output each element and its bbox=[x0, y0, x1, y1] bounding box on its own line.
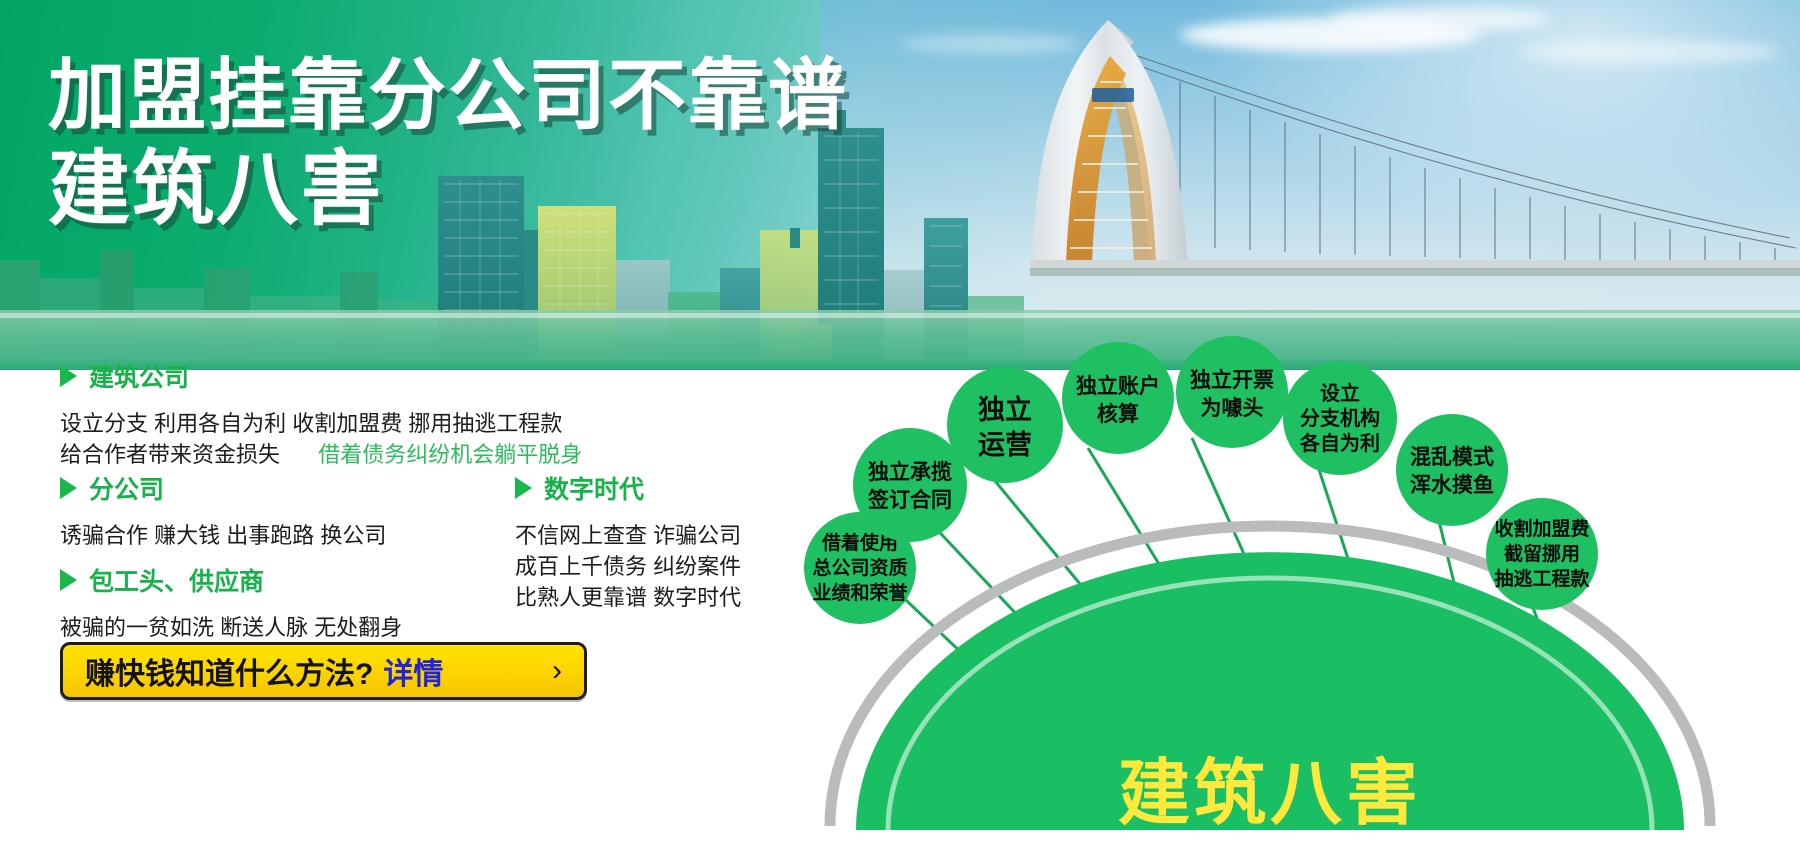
section-contractor-supplier: 包工头、供应商 被骗的一贫如洗 断送人脉 无处翻身 bbox=[60, 562, 402, 643]
dome-label: 建筑八害 bbox=[1118, 754, 1422, 834]
bubble-b2[interactable]: 独立承揽 签订合同 bbox=[853, 428, 967, 542]
body-line: 不信网上查查 诈骗公司 bbox=[515, 520, 741, 551]
triangle-bullet-icon bbox=[60, 365, 77, 387]
triangle-bullet-icon bbox=[60, 569, 77, 591]
section-heading-contractor-supplier: 包工头、供应商 bbox=[60, 562, 402, 598]
chevron-right-icon: › bbox=[552, 654, 562, 688]
diagram-svg: 建筑八害 借着使用 总公司资质 业绩和荣誉 独立承揽 签订合同 独立 运营 bbox=[800, 330, 1800, 844]
bubble-diagram: 建筑八害 借着使用 总公司资质 业绩和荣誉 独立承揽 签订合同 独立 运营 bbox=[800, 330, 1800, 844]
section-branch-company: 分公司 诱骗合作 赚大钱 出事跑路 换公司 bbox=[60, 470, 386, 551]
bubble-b1-line-2: 业绩和荣誉 bbox=[812, 581, 908, 604]
poster-root: 加盟挂靠分公司不靠谱 建筑八害 建筑公司 设立分支 利用各自为利 收割加盟费 挪… bbox=[0, 0, 1800, 844]
hero-headline: 加盟挂靠分公司不靠谱 建筑八害 bbox=[48, 56, 848, 231]
triangle-bullet-icon bbox=[60, 477, 77, 499]
bubble-b6-line-1: 分支机构 bbox=[1300, 406, 1380, 430]
bubble-b3-line-1: 运营 bbox=[978, 430, 1032, 460]
headline-line-1: 加盟挂靠分公司不靠谱 bbox=[48, 56, 848, 136]
bubble-b3-line-0: 独立 bbox=[978, 394, 1032, 425]
body-line-mixed: 给合作者带来资金损失 借着债务纠纷机会躺平脱身 bbox=[60, 439, 582, 470]
body-line: 成百上千债务 纠纷案件 bbox=[515, 551, 741, 582]
bubble-b4[interactable]: 独立账户 核算 bbox=[1062, 342, 1174, 454]
bubble-b8-line-0: 收割加盟费 bbox=[1494, 517, 1589, 540]
section-title-text: 包工头、供应商 bbox=[89, 562, 264, 598]
section-heading-construction-company: 建筑公司 bbox=[60, 358, 582, 394]
body-line: 比熟人更靠谱 数字时代 bbox=[515, 582, 741, 613]
bubble-b1-line-1: 总公司资质 bbox=[812, 556, 907, 579]
bubble-b2-line-0: 独立承揽 bbox=[868, 460, 952, 484]
section-body-digital-era: 不信网上查查 诈骗公司 成百上千债务 纠纷案件 比熟人更靠谱 数字时代 bbox=[515, 520, 741, 614]
hero-banner: 加盟挂靠分公司不靠谱 建筑八害 bbox=[0, 0, 1800, 370]
bubble-b5[interactable]: 独立开票 为噱头 bbox=[1176, 336, 1288, 448]
section-title-text: 分公司 bbox=[89, 470, 164, 506]
section-title-text: 建筑公司 bbox=[89, 358, 189, 394]
triangle-bullet-icon bbox=[515, 477, 532, 499]
hero-ground-line bbox=[0, 313, 1800, 318]
bubble-b7-line-0: 混乱模式 bbox=[1410, 445, 1494, 469]
section-title-text: 数字时代 bbox=[544, 470, 644, 506]
bubble-b5-line-1: 为噱头 bbox=[1201, 397, 1264, 420]
bubble-b5-line-0: 独立开票 bbox=[1190, 368, 1274, 392]
bubble-b8[interactable]: 收割加盟费 截留挪用 抽逃工程款 bbox=[1486, 498, 1598, 610]
bubble-b4-line-1: 核算 bbox=[1097, 402, 1139, 426]
section-body-construction-company: 设立分支 利用各自为利 收割加盟费 挪用抽逃工程款 给合作者带来资金损失 借着债… bbox=[60, 408, 582, 470]
headline-line-2: 建筑八害 bbox=[48, 148, 848, 232]
bridge-illustration bbox=[1030, 12, 1800, 312]
body-line: 设立分支 利用各自为利 收割加盟费 挪用抽逃工程款 bbox=[60, 408, 582, 439]
section-digital-era: 数字时代 不信网上查查 诈骗公司 成百上千债务 纠纷案件 比熟人更靠谱 数字时代 bbox=[515, 470, 741, 614]
bubble-b8-line-1: 截留挪用 bbox=[1504, 542, 1580, 565]
bubble-b6[interactable]: 设立 分支机构 各自为利 bbox=[1283, 361, 1397, 475]
bubble-b2-line-1: 签订合同 bbox=[867, 488, 952, 512]
body-line-dark: 给合作者带来资金损失 bbox=[60, 442, 280, 467]
bubble-b6-line-0: 设立 bbox=[1320, 381, 1360, 405]
section-construction-company: 建筑公司 设立分支 利用各自为利 收割加盟费 挪用抽逃工程款 给合作者带来资金损… bbox=[60, 358, 582, 470]
bubble-b8-line-2: 抽逃工程款 bbox=[1494, 567, 1590, 590]
section-body-branch-company: 诱骗合作 赚大钱 出事跑路 换公司 bbox=[60, 520, 386, 551]
section-heading-branch-company: 分公司 bbox=[60, 470, 386, 506]
body-line: 诱骗合作 赚大钱 出事跑路 换公司 bbox=[60, 520, 386, 551]
body-line: 被骗的一贫如洗 断送人脉 无处翻身 bbox=[60, 612, 402, 643]
section-heading-digital-era: 数字时代 bbox=[515, 470, 741, 506]
bubble-b7[interactable]: 混乱模式 浑水摸鱼 bbox=[1396, 414, 1508, 526]
cta-label: 赚快钱知道什么方法? bbox=[85, 649, 373, 693]
bubble-b4-line-0: 独立账户 bbox=[1076, 374, 1160, 398]
body-line-green: 借着债务纠纷机会躺平脱身 bbox=[318, 442, 582, 467]
cta-detail-link[interactable]: 详情 bbox=[383, 649, 443, 693]
bubble-b3[interactable]: 独立 运营 bbox=[947, 367, 1063, 483]
content-left: 建筑公司 设立分支 利用各自为利 收割加盟费 挪用抽逃工程款 给合作者带来资金损… bbox=[0, 370, 800, 844]
bubble-b6-line-2: 各自为利 bbox=[1299, 431, 1380, 455]
bubble-b7-line-1: 浑水摸鱼 bbox=[1410, 473, 1494, 497]
section-body-contractor-supplier: 被骗的一贫如洗 断送人脉 无处翻身 bbox=[60, 612, 402, 643]
cta-button[interactable]: 赚快钱知道什么方法? 详情 › bbox=[60, 642, 587, 700]
